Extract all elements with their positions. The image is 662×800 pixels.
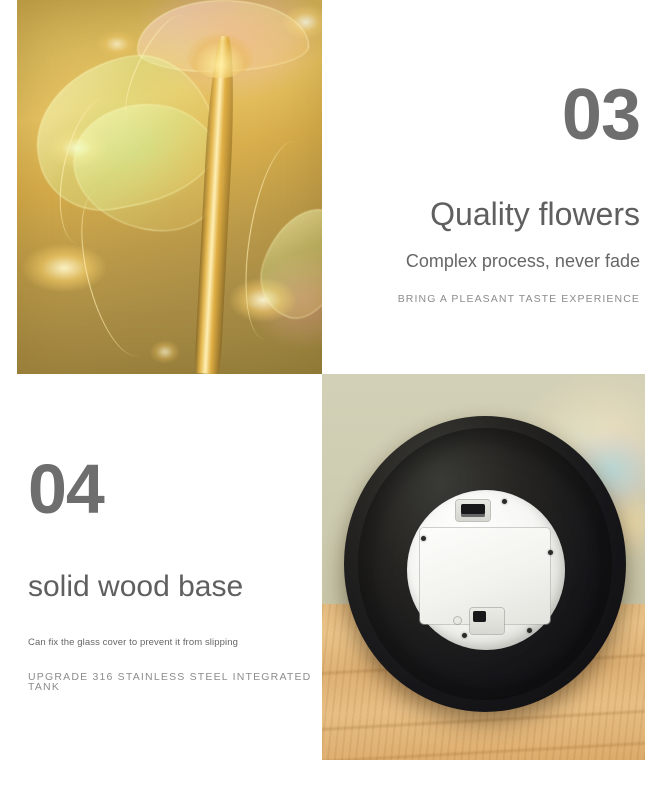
screw-hole <box>502 499 507 504</box>
text-panel-04: 04 solid wood base Can fix the glass cov… <box>0 374 322 760</box>
power-switch-slot <box>473 611 486 622</box>
panel-title-04: solid wood base <box>28 572 322 602</box>
text-panel-03: 03 Quality flowers Complex process, neve… <box>322 0 662 374</box>
panel-tagline-03: BRING A PLEASANT TASTE EXPERIENCE <box>322 294 640 305</box>
product-feature-page: 03 Quality flowers Complex process, neve… <box>0 0 662 800</box>
photo-solid-wood-base <box>322 374 645 760</box>
photo-quality-flowers <box>17 0 322 374</box>
panel-subtitle-04: Can fix the glass cover to prevent it fr… <box>28 638 322 648</box>
panel-subtitle-03: Complex process, never fade <box>322 252 640 270</box>
panel-number-03: 03 <box>322 79 640 151</box>
rose-stem-flare <box>187 34 253 78</box>
usb-port-opening <box>461 504 485 517</box>
wood-grain-seam <box>322 739 645 760</box>
usb-port <box>456 500 490 521</box>
power-switch <box>470 608 504 634</box>
black-base-disc <box>344 416 626 712</box>
screw-hole <box>462 633 467 638</box>
screw-hole <box>527 628 532 633</box>
screw-hole <box>548 550 553 555</box>
panel-title-03: Quality flowers <box>322 198 640 230</box>
screw-hole <box>421 536 426 541</box>
rubber-foot <box>454 617 461 624</box>
base-underside-plate <box>407 490 565 650</box>
panel-tagline-04: UPGRADE 316 STAINLESS STEEL INTEGRATED T… <box>28 672 322 693</box>
panel-number-04: 04 <box>28 454 322 524</box>
